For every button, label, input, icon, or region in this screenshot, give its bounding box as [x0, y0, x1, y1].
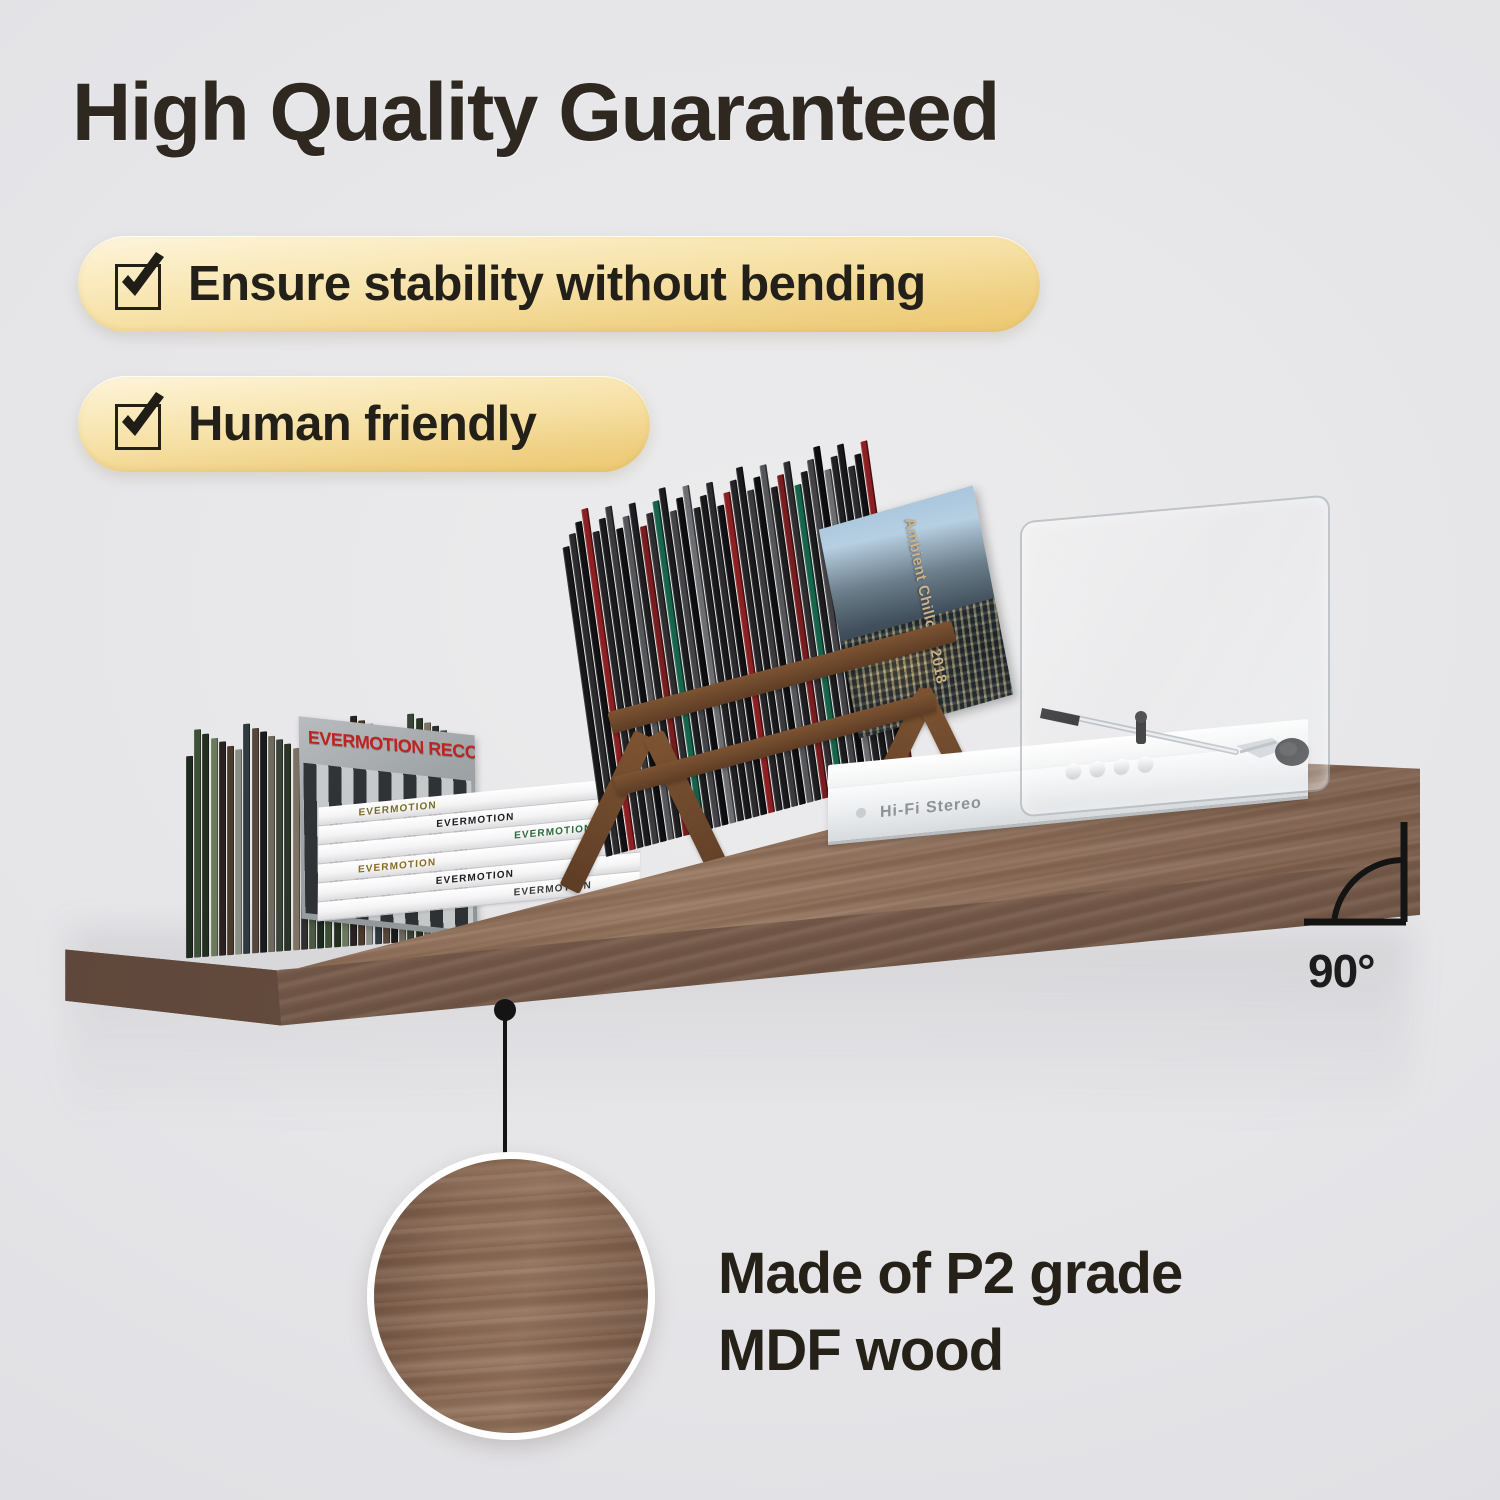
material-caption-line-2: MDF wood	[718, 1313, 1182, 1390]
checkbox-checked-icon	[112, 257, 166, 311]
right-angle-icon	[1300, 818, 1420, 938]
feature-pill-stability: Ensure stability without bending	[78, 236, 1040, 332]
page-title: High Quality Guaranteed	[72, 72, 1392, 154]
material-caption-line-1: Made of P2 grade	[718, 1236, 1182, 1313]
feature-pill-human-friendly: Human friendly	[78, 376, 650, 472]
wood-grain-swatch	[367, 1152, 655, 1440]
material-caption: Made of P2 grade MDF wood	[718, 1236, 1182, 1389]
product-feature-graphic: High Quality Guaranteed Ensure stability…	[0, 0, 1500, 1500]
angle-label: 90°	[1308, 944, 1375, 998]
callout-leader-line	[503, 1018, 507, 1160]
turntable-dust-cover	[1020, 494, 1330, 817]
checkbox-checked-icon	[112, 397, 166, 451]
feature-pill-label: Human friendly	[188, 396, 536, 452]
feature-pill-label: Ensure stability without bending	[188, 256, 926, 312]
